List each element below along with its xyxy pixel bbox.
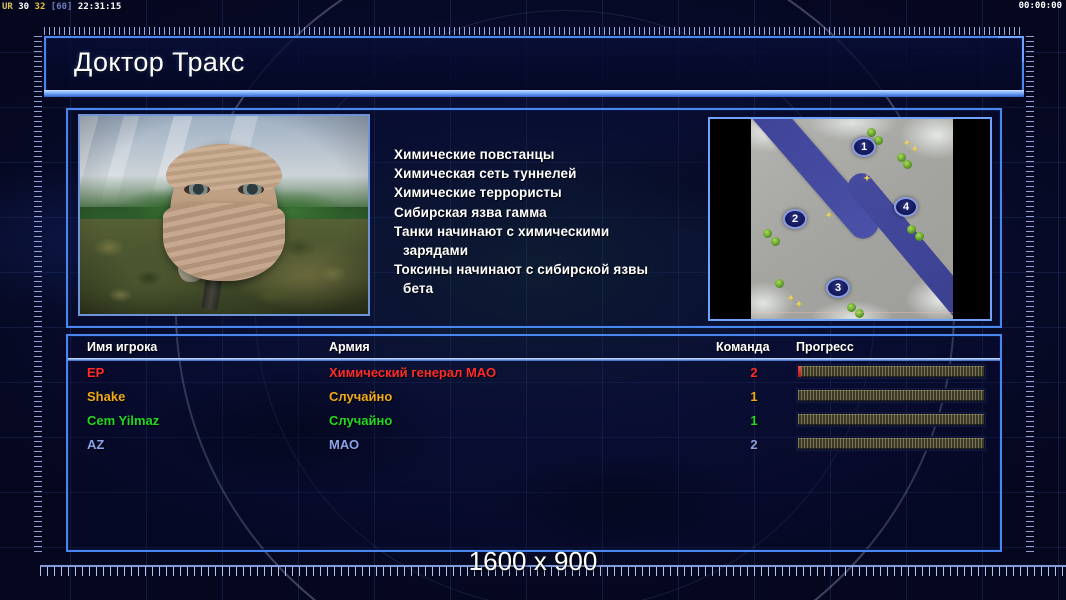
map-tree-icon [903, 160, 912, 169]
player-army[interactable]: Химический генерал МАО [329, 365, 496, 380]
description-line: Сибирская язва гамма [394, 203, 694, 222]
player-team[interactable]: 2 [744, 437, 764, 452]
description-line: Химическая сеть туннелей [394, 164, 694, 183]
table-row[interactable]: ShakeСлучайно1 [66, 386, 1002, 410]
player-progress-bar [796, 412, 986, 427]
player-name: Cem Yilmaz [87, 413, 159, 428]
player-table-divider [68, 358, 1000, 361]
player-progress-bar [796, 364, 986, 379]
player-team[interactable]: 1 [744, 389, 764, 404]
player-team[interactable]: 2 [744, 365, 764, 380]
map-start-position-marker: 2 [783, 209, 807, 229]
map-tree-icon [915, 232, 924, 241]
description-line: Танки начинают с химическими [394, 222, 694, 241]
column-header-name: Имя игрока [87, 340, 157, 354]
map-preview[interactable]: 1234 [708, 117, 992, 321]
player-army[interactable]: МАО [329, 437, 359, 452]
player-progress-bar [796, 388, 986, 403]
description-line: бета [394, 279, 694, 298]
column-header-army: Армия [329, 340, 370, 354]
map-tree-icon [867, 128, 876, 137]
fps-value: 30 [18, 2, 29, 12]
game-lobby-screen: UR 30 32 [60] 22:31:15 00:00:00 Доктор Т… [0, 0, 1066, 600]
map-preview-image: 1234 [751, 119, 953, 319]
portrait-vignette [80, 116, 368, 314]
player-progress-marker [798, 366, 801, 377]
title-divider [44, 90, 1024, 97]
table-row[interactable]: Cem YilmazСлучайно1 [66, 410, 1002, 434]
player-name: AZ [87, 437, 104, 452]
player-name: EP [87, 365, 104, 380]
ruler-right [1024, 36, 1035, 552]
table-row[interactable]: AZМАО2 [66, 434, 1002, 458]
clock-display: 00:00:00 [1019, 1, 1062, 11]
player-progress-fill [798, 366, 984, 377]
top-status-bar: UR 30 32 [60] 22:31:15 00:00:00 [0, 0, 1066, 13]
player-table-header: Имя игрокаАрмияКомандаПрогресс [66, 340, 1002, 360]
session-timer: 22:31:15 [78, 2, 121, 12]
page-title: Доктор Тракс [74, 47, 245, 78]
map-scanline [751, 312, 953, 313]
map-tree-icon [771, 237, 780, 246]
map-start-position-marker: 3 [826, 278, 850, 298]
frame-value: 32 [35, 2, 46, 12]
player-progress-fill [798, 438, 984, 449]
column-header-progress: Прогресс [796, 340, 854, 354]
ruler-left [32, 36, 43, 552]
player-progress-fill [798, 390, 984, 401]
resolution-label: 1600 x 900 [0, 546, 1066, 577]
map-tree-icon [763, 229, 772, 238]
map-start-position-marker: 4 [894, 197, 918, 217]
fps-prefix: UR [2, 2, 13, 12]
map-start-position-marker: 1 [852, 137, 876, 157]
description-line: зарядами [394, 241, 694, 260]
description-line: Токсины начинают с сибирской язвы [394, 260, 694, 279]
column-header-team: Команда [716, 340, 770, 354]
player-army[interactable]: Случайно [329, 389, 392, 404]
player-army[interactable]: Случайно [329, 413, 392, 428]
player-table-body: EPХимический генерал МАО2ShakeСлучайно1C… [66, 362, 1002, 458]
frame-max: [60] [51, 2, 73, 12]
description-line: Химические террористы [394, 183, 694, 202]
description-line: Химические повстанцы [394, 145, 694, 164]
player-progress-bar [796, 436, 986, 451]
faction-description-list: Химические повстанцыХимическая сеть тунн… [394, 145, 694, 299]
map-tree-icon [775, 279, 784, 288]
map-tree-icon [855, 309, 864, 318]
table-row[interactable]: EPХимический генерал МАО2 [66, 362, 1002, 386]
ruler-top [44, 24, 1024, 35]
player-progress-fill [798, 414, 984, 425]
corner-notch-icon [998, 36, 1024, 62]
player-name: Shake [87, 389, 125, 404]
general-portrait [78, 114, 370, 316]
player-team[interactable]: 1 [744, 413, 764, 428]
fps-counter: UR 30 32 [60] 22:31:15 [0, 2, 121, 12]
map-tree-icon [907, 225, 916, 234]
